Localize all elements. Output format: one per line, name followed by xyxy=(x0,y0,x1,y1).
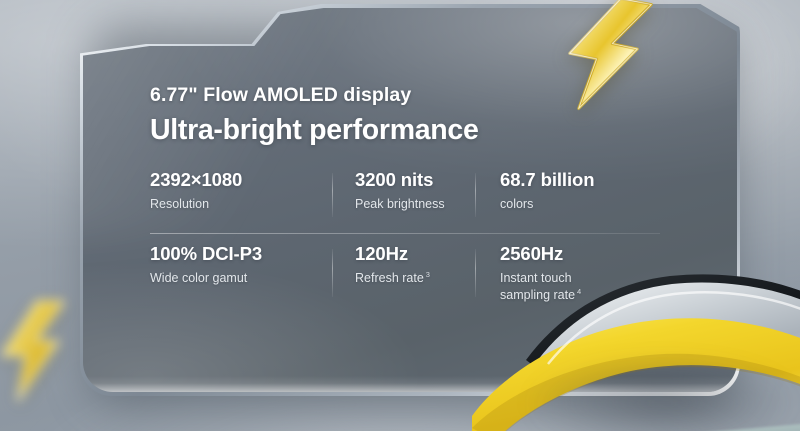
phone-reflection-strip xyxy=(619,418,800,431)
spec-divider-vertical xyxy=(475,249,476,297)
spec-item-colors: 68.7 billion colors xyxy=(475,169,652,233)
spec-label: Peak brightness xyxy=(355,196,475,213)
card-bottom-edge-light xyxy=(83,376,737,392)
spec-item-refresh-rate: 120Hz Refresh rate3 xyxy=(332,243,475,315)
spec-label: colors xyxy=(500,196,652,213)
spec-label-text: Instant touchsampling rate xyxy=(500,271,575,302)
spec-grid: 2392×1080 Resolution 3200 nits Peak brig… xyxy=(150,169,652,315)
spec-footnote-marker: 3 xyxy=(426,270,430,279)
spec-value: 68.7 billion xyxy=(500,169,652,191)
headline-block: 6.77" Flow AMOLED display Ultra-bright p… xyxy=(150,84,650,147)
spec-row: 2392×1080 Resolution 3200 nits Peak brig… xyxy=(150,169,652,233)
spec-item-color-gamut: 100% DCI-P3 Wide color gamut xyxy=(150,243,332,315)
spec-label: Wide color gamut xyxy=(150,270,332,287)
spec-value: 2560Hz xyxy=(500,243,652,265)
spec-label: Instant touchsampling rate4 xyxy=(500,270,652,303)
display-eyebrow: 6.77" Flow AMOLED display xyxy=(150,84,650,107)
spec-footnote-marker: 4 xyxy=(577,287,581,296)
spec-label: Resolution xyxy=(150,196,332,213)
spec-value: 120Hz xyxy=(355,243,475,265)
spec-value: 2392×1080 xyxy=(150,169,332,191)
spec-item-resolution: 2392×1080 Resolution xyxy=(150,169,332,233)
spec-row: 100% DCI-P3 Wide color gamut 120Hz Refre… xyxy=(150,233,652,315)
spec-divider-vertical xyxy=(475,173,476,217)
feature-card: 6.77" Flow AMOLED display Ultra-bright p… xyxy=(80,4,740,396)
page-title: Ultra-bright performance xyxy=(150,114,650,147)
spec-value: 3200 nits xyxy=(355,169,475,191)
lightning-bolt-icon xyxy=(0,295,77,407)
spec-value: 100% DCI-P3 xyxy=(150,243,332,265)
spec-item-peak-brightness: 3200 nits Peak brightness xyxy=(332,169,475,233)
spec-item-touch-sampling-rate: 2560Hz Instant touchsampling rate4 xyxy=(475,243,652,315)
spec-divider-vertical xyxy=(332,249,333,297)
spec-label: Refresh rate3 xyxy=(355,270,475,287)
promo-banner: 6.77" Flow AMOLED display Ultra-bright p… xyxy=(0,0,800,431)
spec-label-text: Refresh rate xyxy=(355,271,424,285)
spec-divider-vertical xyxy=(332,173,333,217)
